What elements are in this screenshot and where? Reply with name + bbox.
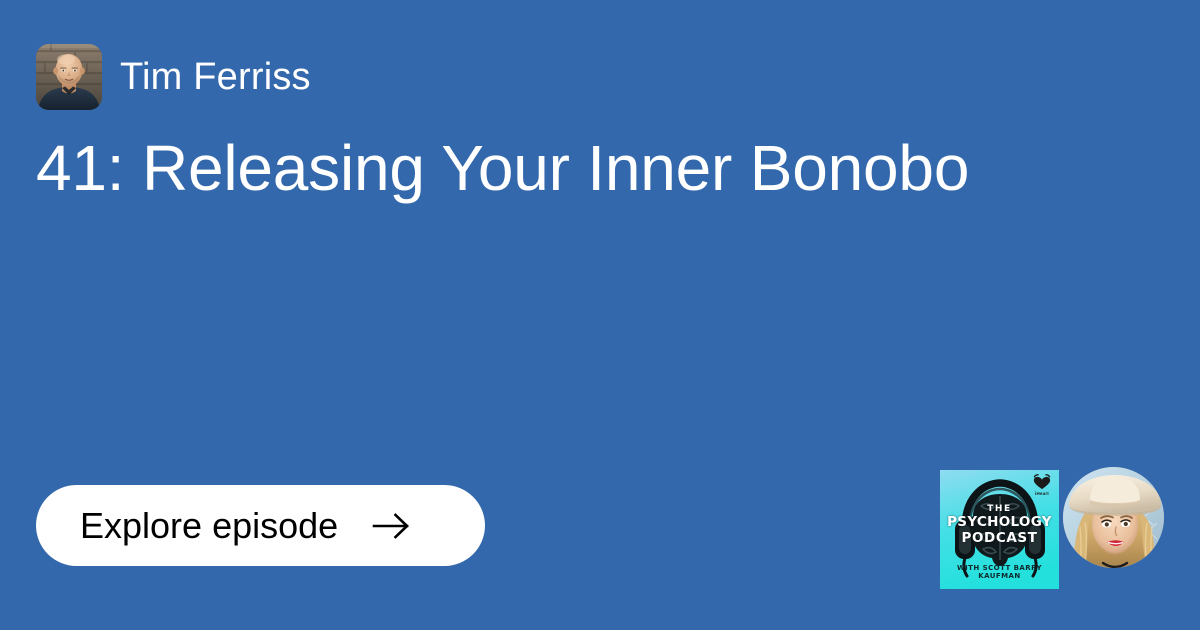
episode-title: 41: Releasing Your Inner Bonobo	[36, 133, 1086, 205]
explore-episode-button[interactable]: Explore episode	[36, 485, 485, 566]
arrow-right-icon	[372, 511, 412, 541]
author-row: Tim Ferriss	[36, 44, 311, 110]
avatar	[36, 44, 102, 110]
brain-headphones-icon	[940, 470, 1059, 589]
guest-avatar	[1063, 467, 1164, 568]
episode-share-card: { "card": { "background_color": "#3368AC…	[0, 0, 1200, 630]
avatar-photo	[36, 44, 102, 110]
author-name: Tim Ferriss	[120, 58, 311, 96]
podcast-artwork-cluster: THE PSYCHOLOGY PODCAST WITH SCOTT BARRY …	[940, 470, 1164, 590]
podcast-cover-art: THE PSYCHOLOGY PODCAST WITH SCOTT BARRY …	[940, 470, 1059, 589]
explore-episode-label: Explore episode	[80, 508, 338, 544]
guest-avatar-photo	[1063, 467, 1164, 568]
